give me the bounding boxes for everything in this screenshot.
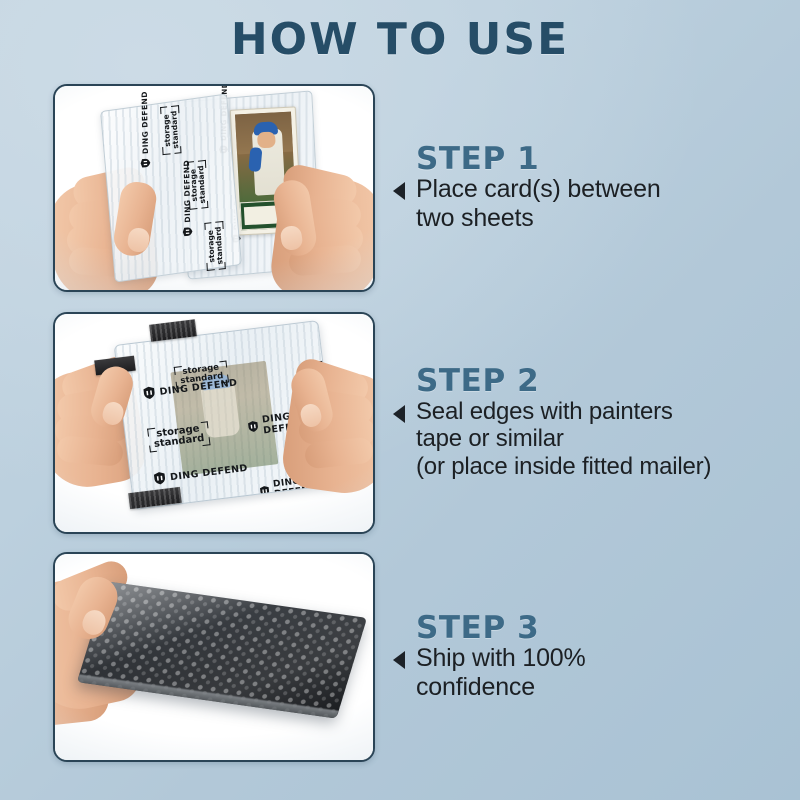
- storage-word-bottom: standard: [170, 110, 180, 149]
- step-2-line-3: (or place inside fitted mailer): [416, 453, 797, 480]
- pointer-arrow-icon: [393, 182, 405, 200]
- storage-word-bottom: standard: [197, 165, 207, 204]
- pointer-arrow-icon: [393, 405, 405, 423]
- step-2-photo-panel: DING DEFEND storage standard DING DEFEND: [53, 312, 375, 534]
- storage-word-bottom: standard: [214, 226, 224, 265]
- photo-ship-with-confidence: [55, 554, 373, 760]
- step-2-text: STEP 2 Seal edges with painters tape or …: [405, 312, 797, 534]
- step-3-heading: STEP 3: [416, 613, 797, 645]
- step-1-line-1: Place card(s) between: [416, 175, 797, 204]
- step-3-text: STEP 3 Ship with 100% confidence: [405, 552, 797, 762]
- page-title: HOW TO USE: [0, 14, 800, 65]
- step-3-photo-panel: [53, 552, 375, 762]
- photo-place-card-between-sheets: DING DEFEND storage standard DING DEFEND: [55, 86, 373, 290]
- storage-standard-logo: storage standard: [160, 105, 182, 155]
- pointer-arrow-icon: [393, 651, 405, 669]
- shield-icon: [140, 158, 151, 169]
- step-2-heading: STEP 2: [416, 366, 797, 398]
- step-3-description: Ship with 100% confidence: [416, 644, 797, 701]
- shield-icon: [259, 484, 271, 498]
- ding-defend-text: DING DEFEND: [140, 91, 150, 154]
- step-row-3: STEP 3 Ship with 100% confidence: [0, 552, 800, 762]
- shield-icon: [182, 226, 193, 237]
- step-1-line-2: two sheets: [416, 204, 797, 233]
- storage-standard-logo: storage standard: [187, 160, 209, 210]
- ding-defend-logo: DING DEFEND: [139, 91, 151, 169]
- shield-icon: [247, 419, 260, 434]
- step-3-line-2: confidence: [416, 673, 797, 702]
- step-1-heading: STEP 1: [416, 144, 797, 176]
- step-3-line-1: Ship with 100%: [416, 644, 797, 673]
- storage-standard-logo: storage standard: [204, 221, 226, 271]
- step-1-photo-panel: DING DEFEND storage standard DING DEFEND: [53, 84, 375, 292]
- step-1-text: STEP 1 Place card(s) between two sheets: [405, 84, 797, 292]
- photo-seal-edges-with-tape: DING DEFEND storage standard DING DEFEND: [55, 314, 373, 532]
- step-2-description: Seal edges with painters tape or similar…: [416, 398, 797, 480]
- step-row-1: DING DEFEND storage standard DING DEFEND: [0, 84, 800, 292]
- shield-icon: [142, 385, 157, 400]
- step-1-description: Place card(s) between two sheets: [416, 175, 797, 232]
- header: HOW TO USE: [0, 14, 800, 65]
- step-2-line-2: tape or similar: [416, 425, 797, 452]
- step-2-line-1: Seal edges with painters: [416, 398, 797, 425]
- step-row-2: DING DEFEND storage standard DING DEFEND: [0, 312, 800, 534]
- protector-sheet-front: DING DEFEND storage standard DING DEFEND: [100, 93, 242, 282]
- shield-icon: [152, 471, 167, 486]
